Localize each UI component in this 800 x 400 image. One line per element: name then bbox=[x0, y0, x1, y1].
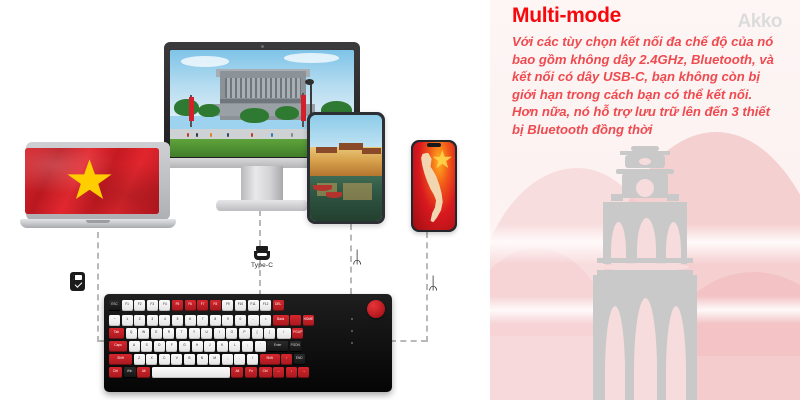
right-text-panel: Akko Multi-mode Với các tùy chọn kết nối… bbox=[490, 0, 800, 400]
hoian-roof bbox=[339, 143, 363, 150]
promo-banner: Type-C ᛦ ᛦ ESCF1F2F3F4F5F6F7F8F9F10F11F1… bbox=[0, 0, 800, 400]
keyboard-key[interactable]: = bbox=[260, 315, 271, 325]
type-c-icon-wrap: Type-C bbox=[251, 246, 273, 269]
mausoleum-columns bbox=[225, 78, 300, 98]
keyboard-key[interactable]: S bbox=[141, 341, 152, 351]
pagoda-wing bbox=[667, 194, 679, 201]
keyboard-key[interactable]: END bbox=[294, 354, 305, 364]
type-c-label: Type-C bbox=[251, 262, 273, 269]
tree bbox=[275, 106, 299, 120]
keyboard-key[interactable]: PGDN bbox=[290, 341, 301, 351]
keyboard-key[interactable]: [ bbox=[252, 328, 263, 338]
keyboard-key[interactable]: Z bbox=[134, 354, 145, 364]
keyboard-key[interactable]: Ctrl bbox=[259, 367, 272, 377]
keyboard-row: CtrlWinAltAltFnCtrl←↓→ bbox=[109, 367, 309, 377]
keyboard-row: ShiftZXCVBNM,./Shift↑END bbox=[109, 354, 305, 364]
keyboard-key[interactable] bbox=[152, 367, 230, 377]
indicator-led bbox=[351, 330, 353, 332]
keyboard-key[interactable]: 3 bbox=[147, 315, 158, 325]
keyboard-key[interactable]: Shift bbox=[109, 354, 132, 364]
akko-mechanical-keyboard[interactable]: ESCF1F2F3F4F5F6F7F8F9F10F11F12DEL~123456… bbox=[104, 294, 392, 392]
keyboard-key[interactable]: F11 bbox=[248, 300, 259, 310]
usb-receiver-icon bbox=[70, 272, 85, 291]
pagoda-wing bbox=[611, 194, 623, 201]
keyboard-key[interactable]: I bbox=[214, 328, 225, 338]
keyboard-key[interactable]: F12 bbox=[260, 300, 271, 310]
keyboard-key[interactable]: ] bbox=[264, 328, 275, 338]
phone-notch bbox=[427, 143, 441, 147]
keyboard-key[interactable]: M bbox=[209, 354, 220, 364]
keyboard-key[interactable]: T bbox=[176, 328, 187, 338]
keyboard-key[interactable]: L bbox=[229, 341, 240, 351]
keyboard-key[interactable]: O bbox=[226, 328, 237, 338]
keyboard-key[interactable]: K bbox=[217, 341, 228, 351]
bluetooth-icon: ᛦ bbox=[428, 276, 438, 293]
keyboard-key[interactable]: 1 bbox=[122, 315, 133, 325]
keyboard-key[interactable]: Ctrl bbox=[109, 367, 122, 377]
keyboard-key[interactable]: Caps bbox=[109, 341, 127, 351]
bluetooth-icon: ᛦ bbox=[352, 250, 362, 267]
keyboard-row: ESCF1F2F3F4F5F6F7F8F9F10F11F12DEL bbox=[109, 300, 284, 310]
pagoda-silhouette bbox=[587, 146, 703, 400]
keyboard-key[interactable]: H bbox=[192, 341, 203, 351]
keyboard-key[interactable]: N bbox=[197, 354, 208, 364]
keyboard-key[interactable]: ~ bbox=[109, 315, 120, 325]
keyboard-key[interactable]: F3 bbox=[147, 300, 158, 310]
keyboard-key[interactable]: - bbox=[248, 315, 259, 325]
indicator-led bbox=[351, 342, 353, 344]
tree bbox=[240, 108, 269, 123]
keyboard-key[interactable]: Enter bbox=[267, 341, 288, 351]
keyboard-key[interactable]: Q bbox=[126, 328, 137, 338]
left-illustration-panel: Type-C ᛦ ᛦ ESCF1F2F3F4F5F6F7F8F9F10F11F1… bbox=[0, 0, 490, 400]
keyboard-key[interactable]: R bbox=[163, 328, 174, 338]
crowd-figure bbox=[196, 133, 198, 137]
keyboard-key[interactable]: X bbox=[146, 354, 157, 364]
keyboard-key[interactable]: 8 bbox=[210, 315, 221, 325]
tree bbox=[198, 104, 220, 118]
keyboard-key[interactable]: ESC bbox=[109, 300, 120, 310]
keyboard-key[interactable]: 0 bbox=[235, 315, 246, 325]
keyboard-key[interactable]: Tab bbox=[109, 328, 124, 338]
keyboard-key[interactable]: F2 bbox=[134, 300, 145, 310]
connector-line-laptop bbox=[97, 232, 99, 342]
keyboard-key[interactable]: G bbox=[179, 341, 190, 351]
keyboard-key[interactable]: Alt bbox=[137, 367, 150, 377]
cloud bbox=[181, 56, 229, 67]
keyboard-key[interactable]: J bbox=[204, 341, 215, 351]
keyboard-key[interactable]: F8 bbox=[210, 300, 221, 310]
keyboard-key[interactable]: F bbox=[166, 341, 177, 351]
page-title: Multi-mode bbox=[512, 4, 621, 28]
crowd-figure bbox=[271, 133, 273, 137]
keyboard-key[interactable]: ' bbox=[255, 341, 266, 351]
keyboard-key[interactable]: Shift bbox=[260, 354, 280, 364]
keyboard-key[interactable]: Y bbox=[189, 328, 200, 338]
monitor-stand-base bbox=[216, 200, 308, 211]
keyboard-key[interactable]: PGUP bbox=[292, 328, 303, 338]
keyboard-key[interactable]: Back bbox=[273, 315, 289, 325]
tablet-screen bbox=[310, 115, 382, 221]
boat bbox=[326, 192, 342, 197]
connector-line-phone-h bbox=[390, 340, 427, 342]
laptop bbox=[20, 142, 176, 232]
keyboard-key[interactable]: F6 bbox=[185, 300, 196, 310]
keyboard-row: TabQWERTYUIOP[]\PGUP bbox=[109, 328, 303, 338]
pagoda-round-window bbox=[636, 179, 654, 197]
keyboard-key[interactable]: C bbox=[159, 354, 170, 364]
keyboard-key[interactable]: ; bbox=[242, 341, 253, 351]
water-reflection bbox=[343, 183, 372, 200]
keyboard-key[interactable]: / bbox=[247, 354, 258, 364]
keyboard-key[interactable]: Win bbox=[124, 367, 136, 377]
keyboard-key[interactable]: 6 bbox=[185, 315, 196, 325]
keyboard-key[interactable]: → bbox=[298, 367, 309, 377]
keyboard-key[interactable]: Fn bbox=[245, 367, 257, 377]
keyboard-key[interactable]: A bbox=[129, 341, 140, 351]
keyboard-key[interactable]: F5 bbox=[172, 300, 183, 310]
keyboard-key[interactable]: F9 bbox=[222, 300, 233, 310]
tree bbox=[174, 99, 200, 116]
keyboard-key[interactable]: F7 bbox=[197, 300, 208, 310]
keyboard-key[interactable]: 7 bbox=[197, 315, 208, 325]
keyboard-key[interactable]: 4 bbox=[159, 315, 170, 325]
red-banner bbox=[301, 95, 306, 121]
keyboard-key[interactable]: F10 bbox=[235, 300, 246, 310]
crowd-figure bbox=[187, 133, 189, 137]
monitor-camera-icon bbox=[261, 45, 264, 48]
keyboard-key[interactable]: W bbox=[138, 328, 149, 338]
cloud bbox=[284, 53, 339, 63]
keyboard-key[interactable]: 2 bbox=[134, 315, 145, 325]
smartphone bbox=[411, 140, 457, 232]
red-banner bbox=[189, 97, 194, 121]
keyboard-key[interactable]: P bbox=[239, 328, 250, 338]
keyboard-key[interactable]: E bbox=[151, 328, 162, 338]
keyboard-key[interactable] bbox=[290, 315, 301, 325]
keyboard-key[interactable]: U bbox=[201, 328, 212, 338]
indicator-led bbox=[351, 318, 353, 320]
laptop-screen bbox=[25, 148, 159, 214]
keyboard-key[interactable]: 9 bbox=[222, 315, 233, 325]
keyboard-key[interactable]: HOME bbox=[303, 315, 314, 325]
rotary-knob[interactable] bbox=[367, 300, 385, 318]
hoian-roof bbox=[316, 147, 338, 153]
keyboard-key[interactable]: B bbox=[184, 354, 195, 364]
keyboard-key[interactable]: ↓ bbox=[286, 367, 297, 377]
keyboard-key[interactable]: , bbox=[222, 354, 233, 364]
tablet bbox=[307, 112, 385, 224]
usb-receiver-icon-wrap bbox=[70, 272, 85, 291]
description-text: Với các tùy chọn kết nối đa chế độ của n… bbox=[512, 33, 780, 139]
keyboard-key[interactable]: D bbox=[154, 341, 165, 351]
crowd-figure bbox=[227, 133, 229, 137]
keyboard-key[interactable]: DEL bbox=[273, 300, 284, 310]
phone-screen bbox=[413, 142, 455, 230]
laptop-notch bbox=[86, 220, 110, 223]
street-lamp-head bbox=[305, 79, 314, 85]
crowd-figure bbox=[251, 133, 253, 137]
flag-star-icon bbox=[432, 150, 452, 170]
keyboard-key[interactable]: F1 bbox=[122, 300, 133, 310]
keyboard-row: CapsASDFGHJKL;'EnterPGDN bbox=[109, 341, 301, 351]
monitor-stand-neck bbox=[241, 166, 283, 204]
type-c-slot bbox=[257, 253, 267, 256]
keyboard-key[interactable]: ↑ bbox=[281, 354, 292, 364]
pagoda-top-window bbox=[639, 158, 651, 165]
keyboard-row: ~1234567890-=BackHOME bbox=[109, 315, 314, 325]
keyboard-keys-area: ESCF1F2F3F4F5F6F7F8F9F10F11F12DEL~123456… bbox=[109, 300, 387, 386]
keyboard-key[interactable]: \ bbox=[277, 328, 291, 338]
keyboard-key[interactable]: . bbox=[234, 354, 245, 364]
akko-logo: Akko bbox=[738, 11, 782, 33]
keyboard-key[interactable]: V bbox=[171, 354, 182, 364]
keyboard-key[interactable]: 5 bbox=[172, 315, 183, 325]
keyboard-key[interactable]: Alt bbox=[231, 367, 243, 377]
keyboard-key[interactable]: ← bbox=[273, 367, 284, 377]
hoian-roof bbox=[362, 148, 381, 154]
keyboard-key[interactable]: F4 bbox=[159, 300, 170, 310]
bluetooth-icon-wrap-tablet: ᛦ bbox=[352, 250, 362, 267]
type-c-icon bbox=[254, 246, 270, 260]
bluetooth-icon-wrap-phone: ᛦ bbox=[428, 276, 438, 293]
